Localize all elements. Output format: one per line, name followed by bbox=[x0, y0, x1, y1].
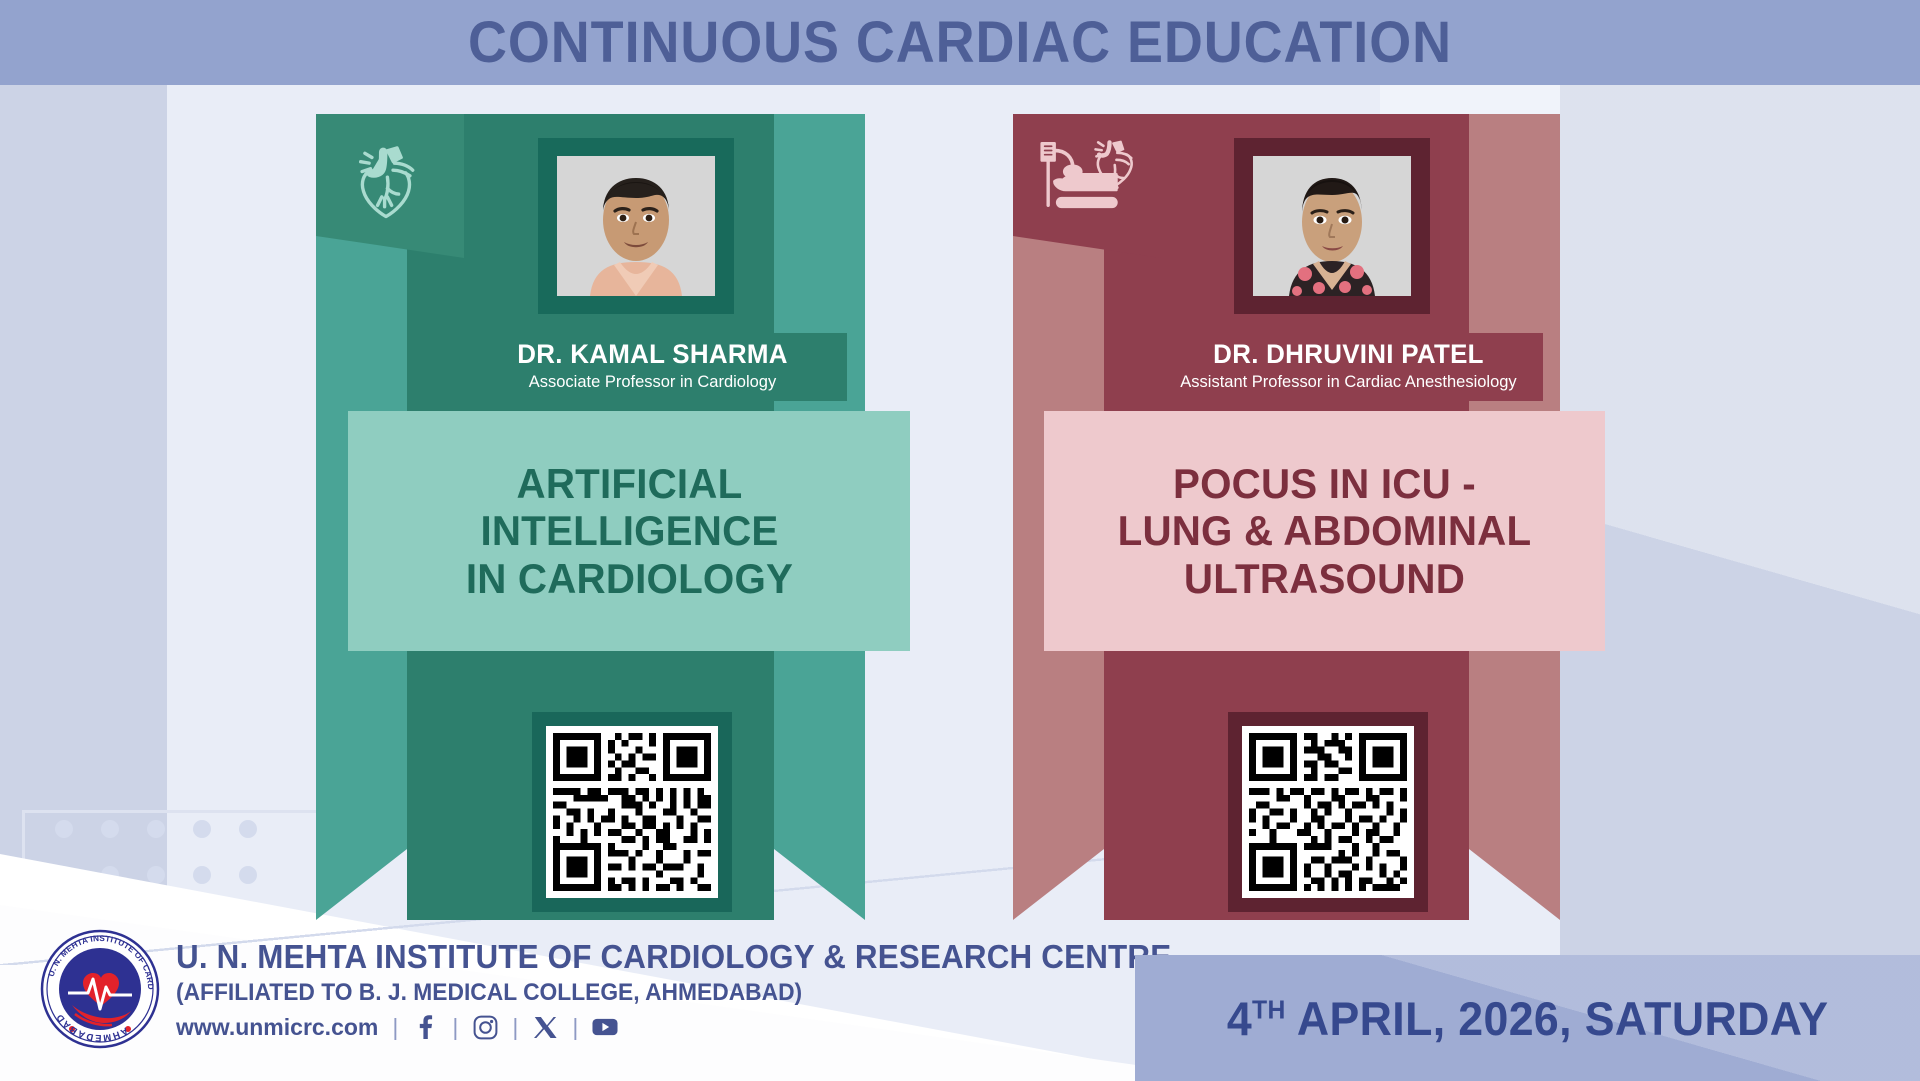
speaker-1-designation: Associate Professor in Cardiology bbox=[464, 371, 841, 392]
speaker-2-portrait bbox=[1234, 138, 1430, 314]
poster-header: CONTINUOUS CARDIAC EDUCATION bbox=[0, 0, 1920, 85]
speaker-2-photo bbox=[1253, 156, 1411, 296]
institute-affiliation: (AFFILIATED TO B. J. MEDICAL COLLEGE, AH… bbox=[176, 978, 1171, 1008]
speaker-1-photo bbox=[557, 156, 715, 296]
x-twitter-icon[interactable] bbox=[532, 1014, 558, 1040]
icu-patient-monitor-icon bbox=[1032, 135, 1136, 225]
website-link[interactable]: www.unmicrc.com bbox=[176, 1014, 378, 1041]
separator: | bbox=[392, 1014, 398, 1041]
session-1-topic-line3: IN CARDIOLOGY bbox=[465, 555, 792, 602]
separator: | bbox=[512, 1014, 518, 1041]
institute-name: U. N. MEHTA INSTITUTE OF CARDIOLOGY & RE… bbox=[176, 939, 1171, 975]
session-1-topic-line1: ARTIFICIAL bbox=[516, 460, 742, 507]
session-2-qr-code[interactable] bbox=[1228, 712, 1428, 912]
facebook-icon[interactable] bbox=[412, 1014, 438, 1040]
instagram-icon[interactable] bbox=[472, 1014, 498, 1040]
youtube-icon[interactable] bbox=[592, 1014, 618, 1040]
speaker-1-nameplate: DR. KAMAL SHARMA Associate Professor in … bbox=[458, 333, 847, 401]
session-2-topic-line1: POCUS IN ICU - bbox=[1173, 460, 1476, 507]
speaker-2-nameplate: DR. DHRUVINI PATEL Assistant Professor i… bbox=[1154, 333, 1543, 401]
institute-logo: U. N. MEHTA INSTITUTE OF CARDIOLOGY & RE… bbox=[40, 925, 160, 1053]
speaker-1-name: DR. KAMAL SHARMA bbox=[466, 339, 839, 370]
session-2-topic-box: POCUS IN ICU - LUNG & ABDOMINAL ULTRASOU… bbox=[1044, 411, 1605, 651]
session-1-qr-code[interactable] bbox=[532, 712, 732, 912]
page-title: CONTINUOUS CARDIAC EDUCATION bbox=[468, 9, 1452, 76]
event-day-ordinal: TH bbox=[1252, 994, 1286, 1024]
session-2-topic-line3: ULTRASOUND bbox=[1184, 555, 1465, 602]
separator: | bbox=[572, 1014, 578, 1041]
session-1-topic-box: ARTIFICIAL INTELLIGENCE IN CARDIOLOGY bbox=[348, 411, 910, 651]
qr-code-icon bbox=[546, 726, 718, 898]
qr-code-icon bbox=[1242, 726, 1414, 898]
separator: | bbox=[452, 1014, 458, 1041]
date-banner: 4TH APRIL, 2026, SATURDAY bbox=[1135, 955, 1920, 1081]
speaker-1-portrait bbox=[538, 138, 734, 314]
event-date-rest: APRIL, 2026, SATURDAY bbox=[1286, 992, 1829, 1045]
speaker-2-name: DR. DHRUVINI PATEL bbox=[1162, 339, 1535, 370]
session-2-topic-line2: LUNG & ABDOMINAL bbox=[1118, 507, 1532, 554]
poster-canvas: CONTINUOUS CARDIAC EDUCATION bbox=[0, 0, 1920, 1081]
speaker-2-designation: Assistant Professor in Cardiac Anesthesi… bbox=[1160, 371, 1537, 392]
session-1-topic-line2: INTELLIGENCE bbox=[480, 507, 778, 554]
anatomical-heart-icon bbox=[341, 135, 431, 225]
event-day: 4 bbox=[1227, 992, 1252, 1045]
footer-institute-block: U. N. MEHTA INSTITUTE OF CARDIOLOGY & RE… bbox=[40, 925, 1224, 1053]
